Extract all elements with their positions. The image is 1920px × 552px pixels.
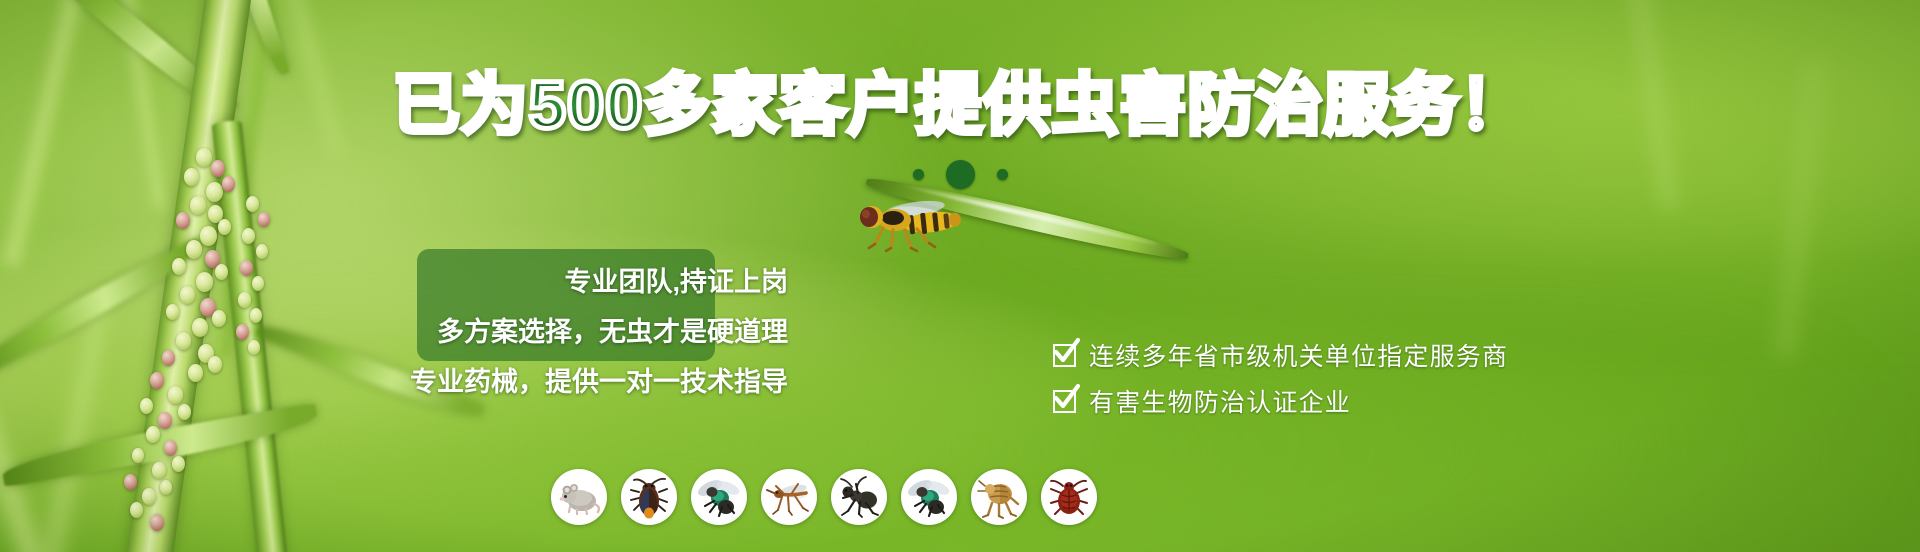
checkbox-checked-icon bbox=[1053, 390, 1076, 413]
pest-icon-row bbox=[551, 469, 1097, 525]
bedbug-icon bbox=[1046, 474, 1092, 520]
info-line-1: 专业团队,持证上岗 bbox=[330, 258, 800, 307]
dot-large-center-icon bbox=[946, 160, 975, 189]
pest-icon-blowfly[interactable] bbox=[901, 469, 957, 525]
page-title: 已为500多家客户提供虫害防治服务！ bbox=[0, 72, 1920, 139]
list-item: 有害生物防治认证企业 bbox=[1053, 383, 1508, 419]
info-line-2: 多方案选择，无虫才是硬道理 bbox=[330, 307, 800, 357]
dot-small-left-icon bbox=[913, 169, 924, 180]
pest-icon-ant[interactable] bbox=[831, 469, 887, 525]
info-line-3: 专业药械，提供一对一技术指导 bbox=[330, 357, 800, 407]
ant-icon bbox=[836, 474, 882, 520]
pest-icon-bedbug[interactable] bbox=[1041, 469, 1097, 525]
mosquito-icon bbox=[766, 474, 812, 520]
pest-icon-flea[interactable] bbox=[971, 469, 1027, 525]
info-panel-text: 专业团队,持证上岗 多方案选择，无虫才是硬道理 专业药械，提供一对一技术指导 bbox=[330, 258, 800, 407]
pest-icon-mouse[interactable] bbox=[551, 469, 607, 525]
flea-icon bbox=[976, 474, 1022, 520]
checklist-label-2: 有害生物防治认证企业 bbox=[1089, 383, 1351, 419]
list-item: 连续多年省市级机关单位指定服务商 bbox=[1053, 337, 1508, 373]
blowfly-icon bbox=[906, 474, 952, 520]
checkbox-checked-icon bbox=[1053, 344, 1076, 367]
mouse-icon bbox=[556, 474, 602, 520]
decorative-dots bbox=[0, 160, 1920, 189]
pest-control-hero-banner: 已为500多家客户提供虫害防治服务！ 专业团队,持证上岗 多方案选择，无虫才是硬… bbox=[0, 0, 1920, 552]
pest-icon-fly[interactable] bbox=[691, 469, 747, 525]
pest-icon-mosquito[interactable] bbox=[761, 469, 817, 525]
credentials-checklist: 连续多年省市级机关单位指定服务商 有害生物防治认证企业 bbox=[1053, 337, 1508, 419]
pest-icon-cockroach[interactable] bbox=[621, 469, 677, 525]
dot-small-right-icon bbox=[997, 169, 1008, 180]
headline-text: 已为500多家客户提供虫害防治服务！ bbox=[393, 72, 1528, 139]
checklist-label-1: 连续多年省市级机关单位指定服务商 bbox=[1089, 337, 1508, 373]
cockroach-icon bbox=[626, 474, 672, 520]
fly-icon bbox=[696, 474, 742, 520]
